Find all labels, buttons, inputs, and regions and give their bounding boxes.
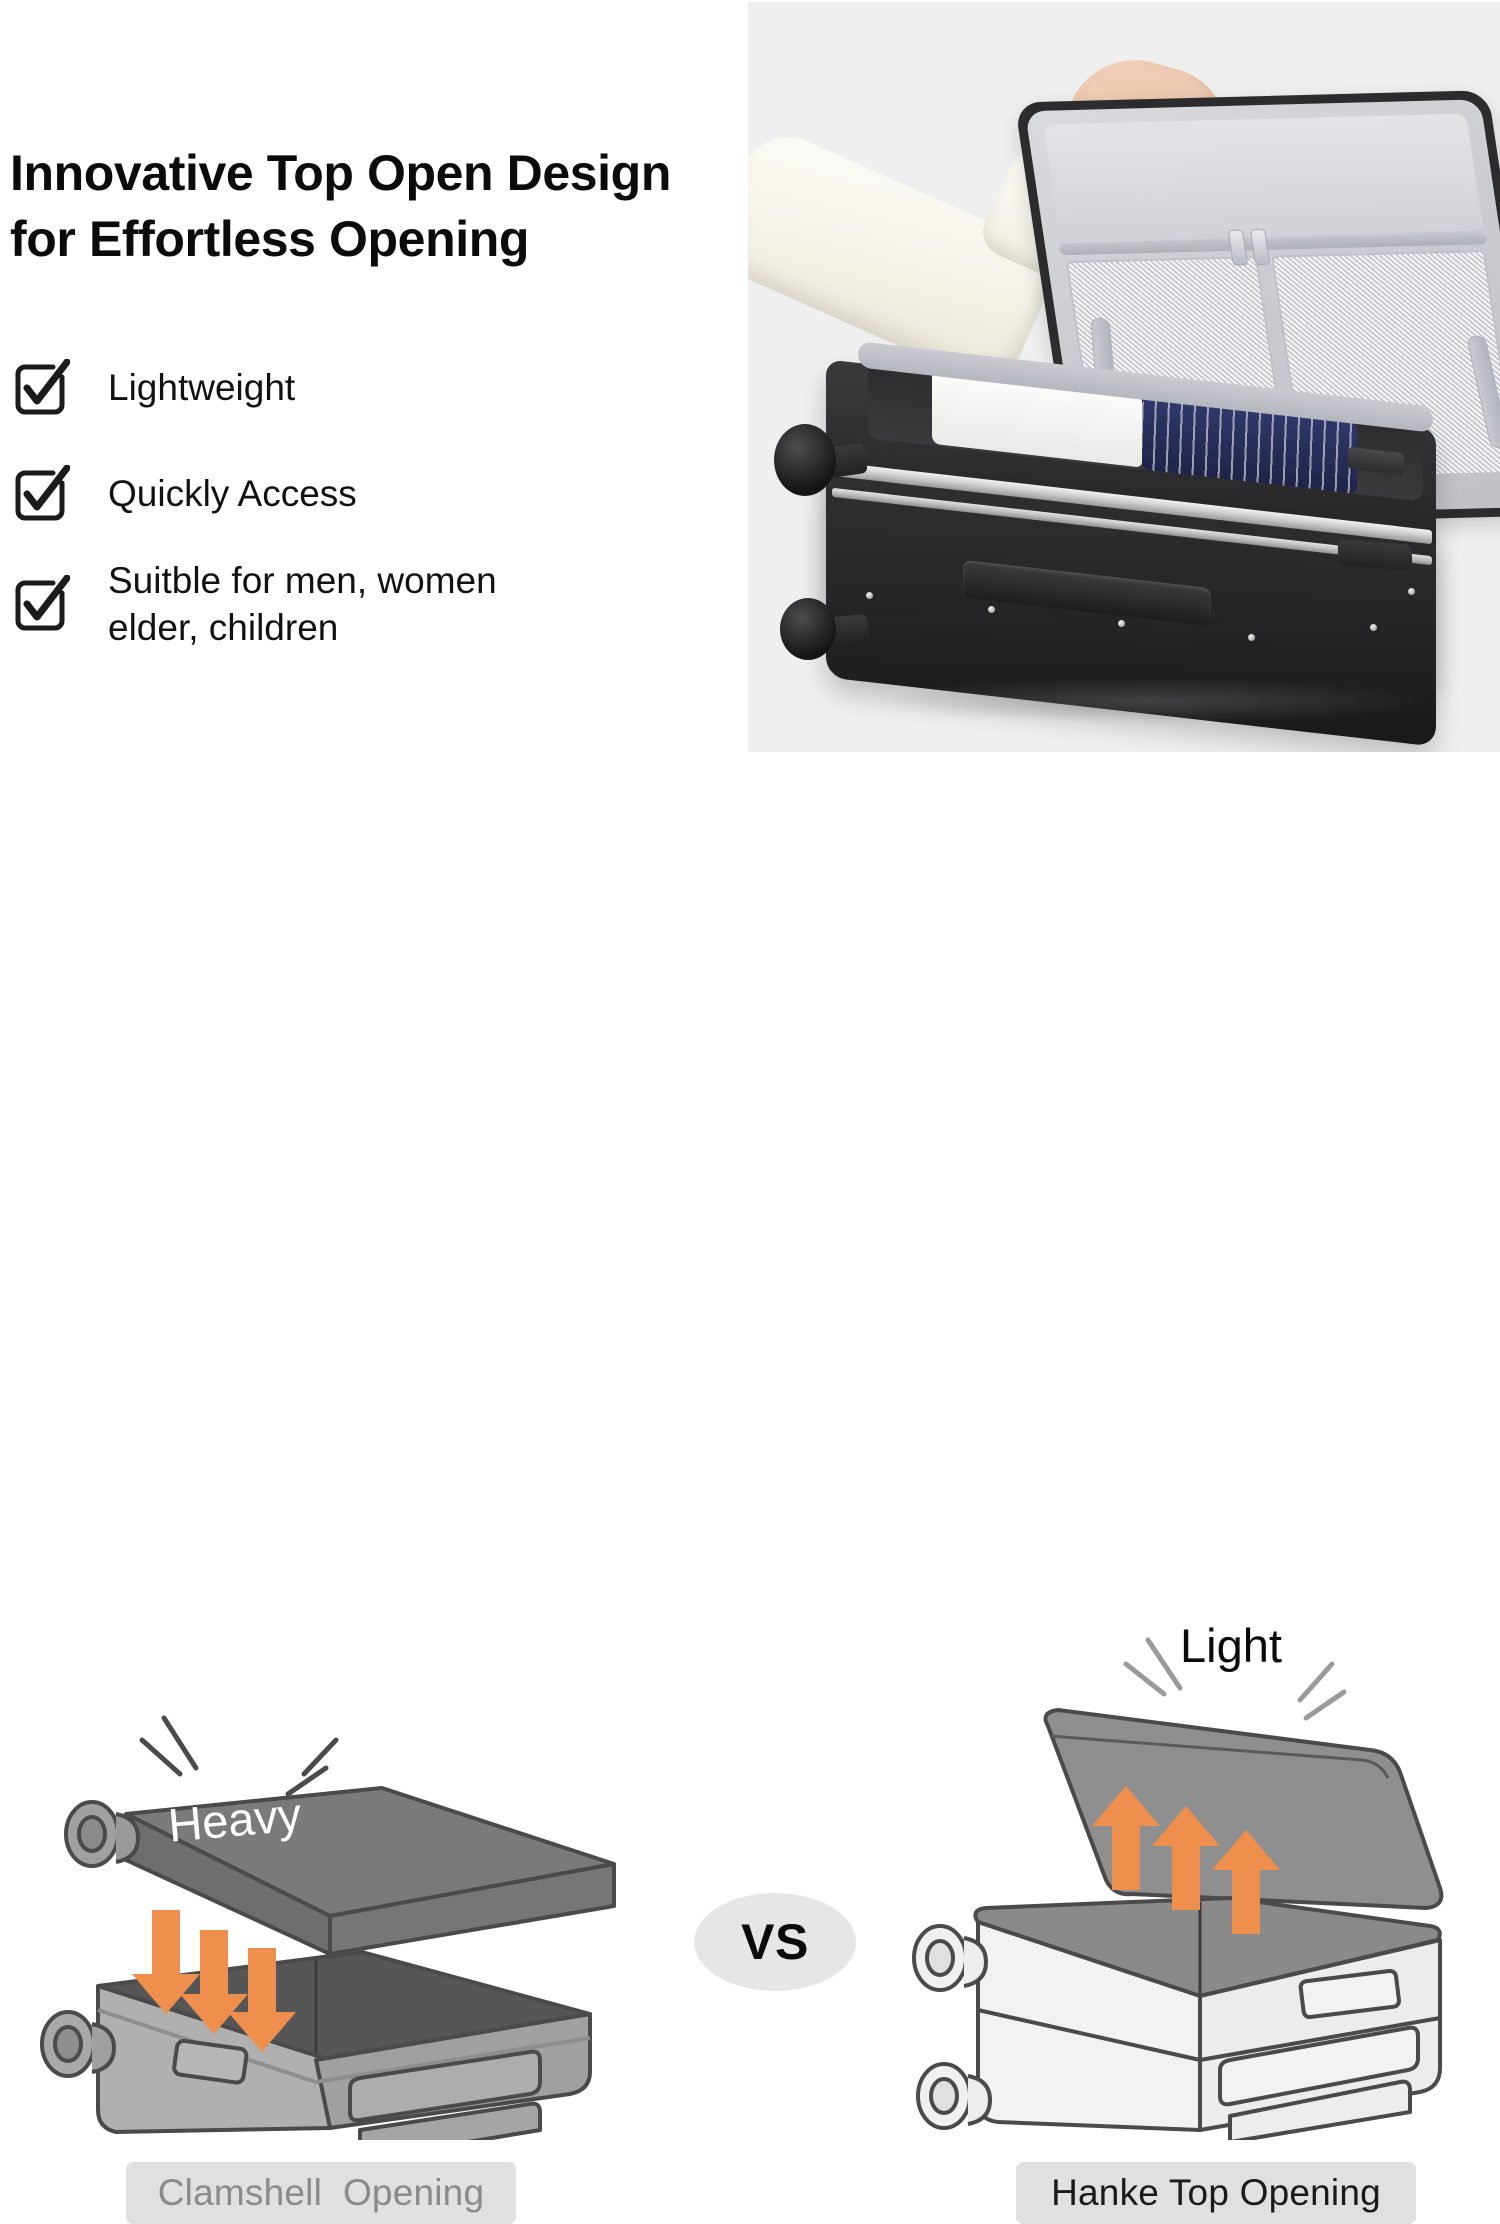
feature-label: Quickly Access (108, 470, 357, 517)
feature-item: Suitble for men, women elder, children (12, 557, 712, 652)
top-feature-section: Innovative Top Open Design for Effortles… (0, 0, 1500, 760)
top-opening-illustration (900, 1630, 1470, 2140)
vs-badge: VS (694, 1893, 856, 1991)
checkbox-checked-icon (12, 465, 70, 523)
feature-item: Lightweight (12, 345, 712, 431)
checkbox-checked-icon (12, 359, 70, 417)
clamshell-caption-pill: Clamshell Opening (126, 2162, 516, 2224)
feature-item: Quickly Access (12, 451, 712, 537)
page-title: Innovative Top Open Design for Effortles… (10, 140, 730, 272)
heavy-label: Heavy (166, 1786, 304, 1852)
comparison-section: Heavy VS (0, 770, 1500, 1462)
floor-shadow (868, 678, 1428, 724)
spinner-wheel (780, 598, 836, 660)
vs-label: VS (741, 1913, 809, 1971)
feature-label: Lightweight (108, 364, 295, 411)
feature-label: Suitble for men, women elder, children (108, 557, 497, 652)
product-photo (748, 2, 1500, 752)
spinner-wheel (774, 424, 836, 496)
feature-checklist: Lightweight Quickly Access Suitble for m… (12, 345, 712, 672)
clamshell-illustration (30, 1710, 650, 2140)
clamshell-caption: Clamshell Opening (158, 2172, 484, 2214)
light-label: Light (1180, 1618, 1282, 1673)
headline-block: Innovative Top Open Design for Effortles… (10, 140, 730, 272)
top-opening-caption: Hanke Top Opening (1051, 2172, 1381, 2214)
top-opening-caption-pill: Hanke Top Opening (1016, 2162, 1416, 2224)
checkbox-checked-icon (12, 575, 70, 633)
